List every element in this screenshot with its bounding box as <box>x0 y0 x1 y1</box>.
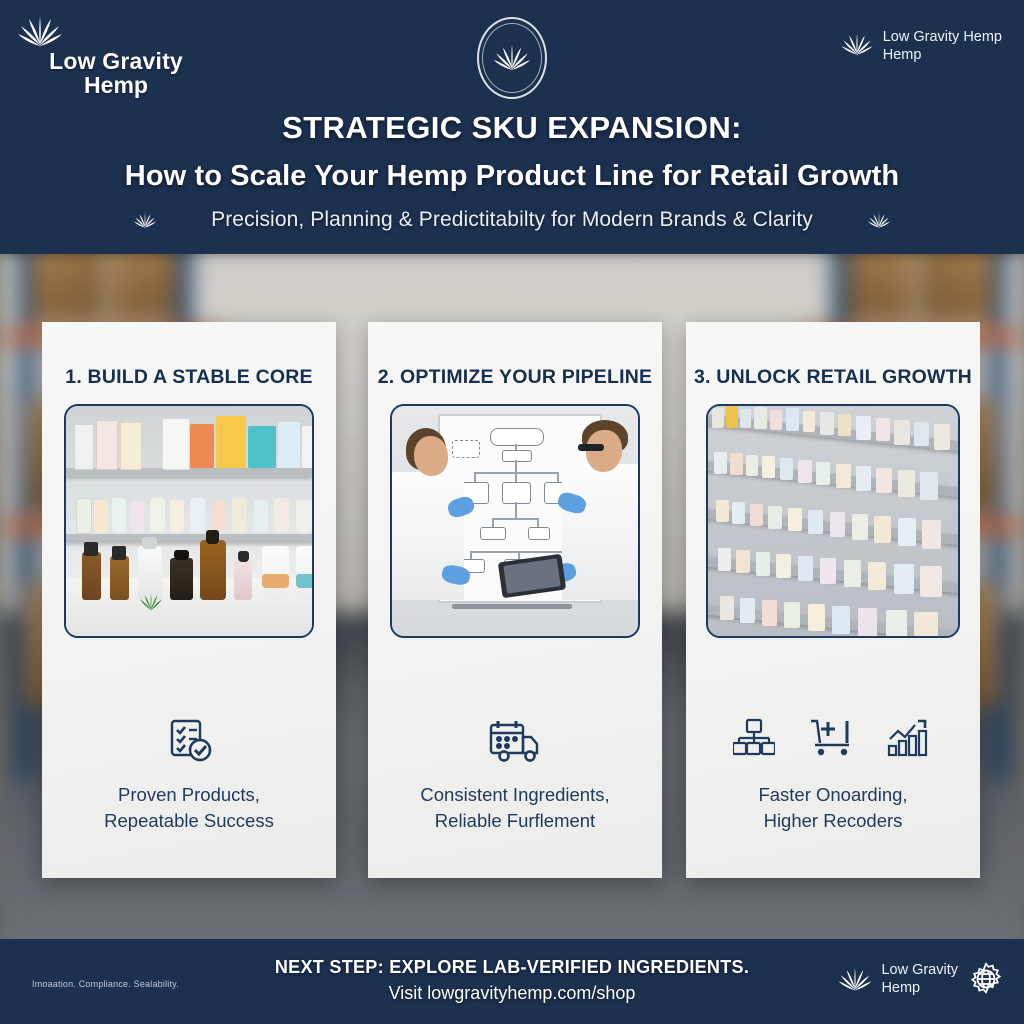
retail-shelf-photo <box>66 406 312 636</box>
center-emblem <box>477 17 547 99</box>
footer-brand-logo[interactable]: Low Gravity Hemp <box>837 959 1006 999</box>
lab-scientists-photo <box>392 406 638 636</box>
cards-section: 1. BUILD A STABLE CORE <box>0 254 1024 954</box>
cart-plus-icon <box>807 717 855 757</box>
card-optimize-your-pipeline[interactable]: 2. OPTIMIZE YOUR PIPELINE <box>368 322 662 878</box>
infographic-poster: Low Gravity Hemp <box>0 0 1024 1024</box>
card-icon-row <box>42 717 336 765</box>
brand-name-line2: Hemp <box>883 46 1002 64</box>
card-unlock-retail-growth[interactable]: 3. UNLOCK RETAIL GROWTH <box>686 322 980 878</box>
hemp-leaf-icon <box>840 28 874 60</box>
card-caption-line2: Repeatable Success <box>56 808 322 834</box>
card-caption-line1: Faster Onoarding, <box>700 782 966 808</box>
brand-logo-right-text: Low Gravity Hemp Hemp <box>883 28 1002 64</box>
card-caption-line1: Consistent Ingredients, <box>382 782 648 808</box>
page-subtitle: How to Scale Your Hemp Product Line for … <box>0 160 1024 193</box>
scientist-right-coat <box>562 464 640 600</box>
card-photo <box>706 404 960 638</box>
retail-aisle-photo <box>708 406 958 636</box>
brand-name-line2: Hemp <box>16 73 216 98</box>
glasses-icon <box>578 444 604 451</box>
tagline-row: Precision, Planning & Predictitabilty fo… <box>0 208 1024 232</box>
hemp-leaf-icon <box>133 208 157 232</box>
hemp-leaf-icon <box>16 14 216 48</box>
card-title: 1. BUILD A STABLE CORE <box>42 366 336 389</box>
calendar-delivery-truck-icon <box>486 717 544 763</box>
card-photo <box>390 404 640 638</box>
hemp-leaf-decor-icon <box>128 592 174 612</box>
hemp-leaf-emblem-icon <box>492 41 532 73</box>
page-title: STRATEGIC SKU EXPANSION: <box>0 110 1024 146</box>
brand-name-line1: Low Gravity <box>16 49 216 73</box>
hemp-leaf-icon <box>837 962 873 996</box>
card-build-a-stable-core[interactable]: 1. BUILD A STABLE CORE <box>42 322 336 878</box>
card-icon-row <box>368 717 662 763</box>
footer-banner: Imoaation. Compliance. Sealability. NEXT… <box>0 939 1024 1024</box>
card-icon-row <box>686 717 980 757</box>
card-caption: Faster Onoarding, Higher Recoders <box>700 782 966 834</box>
brand-name-line2: Hemp <box>881 979 958 997</box>
growth-chart-icon <box>887 717 933 757</box>
whiteboard-tray <box>452 604 572 609</box>
card-title: 2. OPTIMIZE YOUR PIPELINE <box>368 366 662 389</box>
gear-globe-icon <box>966 959 1006 999</box>
scientist-right-head <box>586 430 622 472</box>
footer-brand-text: Low Gravity Hemp <box>881 961 958 997</box>
hemp-leaf-icon <box>867 208 891 232</box>
brand-logo-left[interactable]: Low Gravity Hemp <box>16 14 216 98</box>
brand-logo-right[interactable]: Low Gravity Hemp Hemp <box>840 28 1002 64</box>
card-caption-line1: Proven Products, <box>56 782 322 808</box>
card-caption: Proven Products, Repeatable Success <box>56 782 322 834</box>
card-caption-line2: Reliable Furflement <box>382 808 648 834</box>
card-title: 3. UNLOCK RETAIL GROWTH <box>686 366 980 389</box>
header-banner: Low Gravity Hemp <box>0 0 1024 254</box>
card-caption: Consistent Ingredients, Reliable Furflem… <box>382 782 648 834</box>
checklist-verified-icon <box>163 717 215 765</box>
card-photo <box>64 404 314 638</box>
hierarchy-icon <box>733 717 775 757</box>
brand-name-line1: Low Gravity Hemp <box>883 28 1002 46</box>
card-caption-line2: Higher Recoders <box>700 808 966 834</box>
scientist-left-head <box>414 436 448 476</box>
page-tagline: Precision, Planning & Predictitabilty fo… <box>211 208 813 232</box>
brand-name-line1: Low Gravity <box>881 961 958 979</box>
